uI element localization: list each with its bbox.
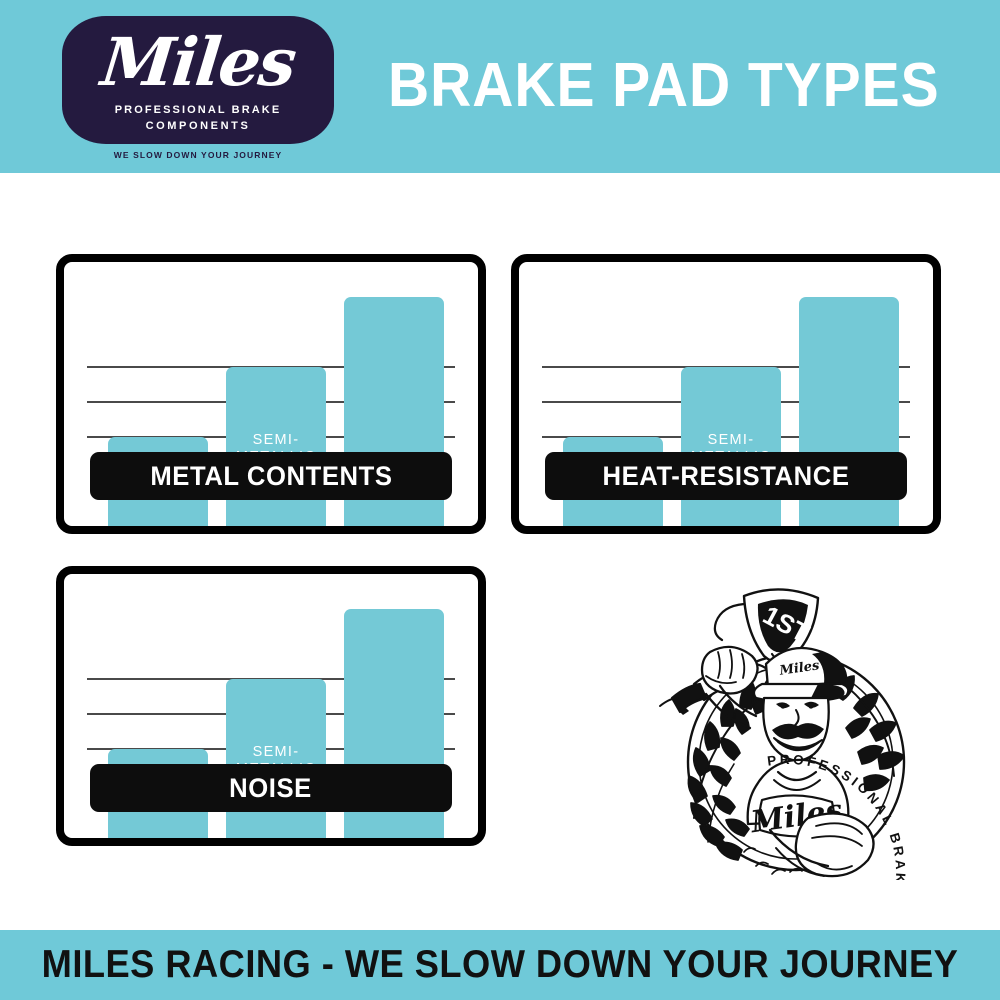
- logo-tagline: WE SLOW DOWN YOUR JOURNEY: [62, 150, 334, 160]
- brand-logo: Miles PROFESSIONAL BRAKE COMPONENTS WE S…: [62, 16, 334, 166]
- chart-title-bar: HEAT-RESISTANCE: [545, 452, 907, 500]
- chart-bar: SEMI-METALLIC: [226, 367, 326, 526]
- chart-title: METAL CONTENTS: [150, 461, 392, 492]
- chart-title-bar: METAL CONTENTS: [90, 452, 452, 500]
- chart-bar: SEMI-METALLIC: [681, 367, 781, 526]
- chart-plot-area: ORGANICSEMI-METALLICSINTEREDNOISE: [64, 574, 478, 838]
- chart-card: ORGANICSEMI-METALLICSINTEREDHEAT-RESISTA…: [511, 254, 941, 534]
- logo-subtitle-line2: COMPONENTS: [62, 120, 334, 132]
- logo-brand-script: Miles: [62, 16, 334, 110]
- footer-tagline: MILES RACING - WE SLOW DOWN YOUR JOURNEY: [35, 930, 965, 1000]
- chart-title: HEAT-RESISTANCE: [602, 461, 849, 492]
- chart-plot-area: ORGANICSEMI-METALLICSINTEREDMETAL CONTEN…: [64, 262, 478, 526]
- chart-bar: SEMI-METALLIC: [226, 679, 326, 838]
- chart-title: NOISE: [230, 773, 313, 804]
- chart-title-bar: NOISE: [90, 764, 452, 812]
- infographic-root: Miles PROFESSIONAL BRAKE COMPONENTS WE S…: [0, 0, 1000, 1000]
- chart-plot-area: ORGANICSEMI-METALLICSINTEREDHEAT-RESISTA…: [519, 262, 933, 526]
- mascot-illustration: 1ST: [648, 580, 928, 880]
- page-title: BRAKE PAD TYPES: [388, 48, 912, 124]
- logo-subtitle-line1: PROFESSIONAL BRAKE: [62, 104, 334, 116]
- logo-plate: Miles PROFESSIONAL BRAKE COMPONENTS: [62, 16, 334, 144]
- chart-card: ORGANICSEMI-METALLICSINTEREDNOISE: [56, 566, 486, 846]
- chart-card: ORGANICSEMI-METALLICSINTEREDMETAL CONTEN…: [56, 254, 486, 534]
